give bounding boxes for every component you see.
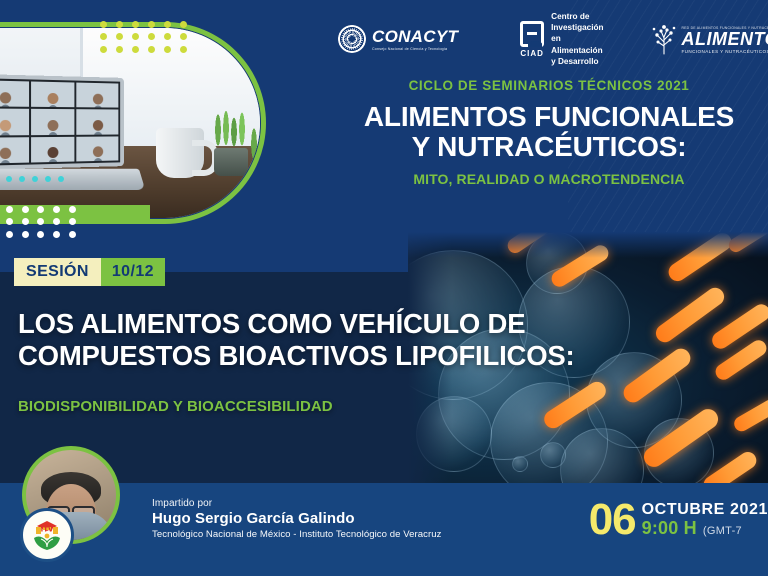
plant-leaves <box>246 122 260 166</box>
ciad-acronym: CIAD <box>520 49 544 58</box>
seminar-title-line2: Y NUTRACÉUTICOS: <box>330 132 768 162</box>
alimentos-overline: RED DE ALIMENTOS FUNCIONALES Y NUTRACÉUT… <box>681 26 768 30</box>
teal-dot-row <box>6 176 64 184</box>
ciad-line1: Centro de Investigación <box>551 11 603 33</box>
ciad-book-icon: CIAD <box>520 21 544 58</box>
plant-tree-icon <box>651 23 677 55</box>
video-call-grid <box>0 74 124 170</box>
participant-tile <box>77 83 119 108</box>
seminar-kicker: CICLO DE SEMINARIOS TÉCNICOS 2021 <box>330 78 768 93</box>
conacyt-name: CONACYT <box>372 28 458 45</box>
event-timezone: (GMT-7 <box>703 525 742 537</box>
speaker-prefix: Impartido por <box>152 498 442 509</box>
participant-tile <box>0 80 29 107</box>
participant-tile <box>77 110 119 135</box>
plant-pot <box>250 162 260 190</box>
alimentos-name: ALIMENTOS <box>681 30 768 48</box>
hero-videoconference-photo <box>0 28 260 218</box>
seminar-title-line1: ALIMENTOS FUNCIONALES <box>330 102 768 132</box>
event-date-block: 06 OCTUBRE 2021 9:00 H (GMT-7 <box>589 500 768 540</box>
event-month-year: OCTUBRE 2021 <box>642 501 768 519</box>
conacyt-dotted-circle-icon <box>338 25 366 53</box>
seminar-title: ALIMENTOS FUNCIONALES Y NUTRACÉUTICOS: <box>330 102 768 162</box>
organizer-logos: CONACYT Consejo Nacional de Ciencia y Te… <box>330 16 768 62</box>
speaker-info: Impartido por Hugo Sergio García Galindo… <box>152 498 442 540</box>
participant-tile <box>0 137 29 164</box>
alimentos-subtitle: FUNCIONALES Y NUTRACÉUTICOS <box>681 49 768 54</box>
decorative-dots-bottom <box>2 203 80 241</box>
talk-title-line1: LOS ALIMENTOS COMO VEHÍCULO DE <box>18 308 698 340</box>
session-badge: SESIÓN 10/12 <box>14 258 165 286</box>
event-time: 9:00 H <box>642 518 697 539</box>
coffee-mug <box>156 128 204 178</box>
potted-plant <box>246 124 260 190</box>
talk-title: LOS ALIMENTOS COMO VEHÍCULO DE COMPUESTO… <box>18 308 698 372</box>
logo-ciad: CIAD Centro de Investigación en Alimenta… <box>520 11 603 66</box>
seminar-subtitle: MITO, REALIDAD O MACROTENDENCIA <box>330 171 768 187</box>
svg-text:ITV: ITV <box>41 526 54 534</box>
plant-pot <box>214 148 248 176</box>
session-label: SESIÓN <box>14 258 101 286</box>
event-day: 06 <box>589 500 636 540</box>
participant-tile <box>31 109 75 135</box>
participant-tile <box>0 109 29 135</box>
session-number: 10/12 <box>101 258 165 286</box>
talk-title-line2: COMPUESTOS BIOACTIVOS LIPOFILICOS: <box>18 340 698 372</box>
conacyt-tagline: Consejo Nacional de Ciencia y Tecnología <box>372 47 458 51</box>
participant-tile <box>31 81 75 107</box>
ciad-line2: en Alimentación y Desarrollo <box>551 33 603 66</box>
logo-conacyt: CONACYT Consejo Nacional de Ciencia y Te… <box>338 25 458 53</box>
speaker-institution: Tecnológico Nacional de México - Institu… <box>152 529 442 540</box>
logo-alimentos: RED DE ALIMENTOS FUNCIONALES Y NUTRACÉUT… <box>651 23 768 55</box>
seminar-title-block: CICLO DE SEMINARIOS TÉCNICOS 2021 ALIMEN… <box>330 78 768 187</box>
speaker-name: Hugo Sergio García Galindo <box>152 510 442 527</box>
participant-tile <box>31 136 75 162</box>
itv-seal-logo: ITV <box>20 508 74 562</box>
decorative-dots-top <box>95 18 191 56</box>
participant-tile <box>77 136 119 161</box>
photo-top-fade <box>408 232 768 258</box>
talk-subtitle: BIODISPONIBILIDAD Y BIOACCESIBILIDAD <box>18 398 538 415</box>
seminar-poster: CONACYT Consejo Nacional de Ciencia y Te… <box>0 0 768 576</box>
